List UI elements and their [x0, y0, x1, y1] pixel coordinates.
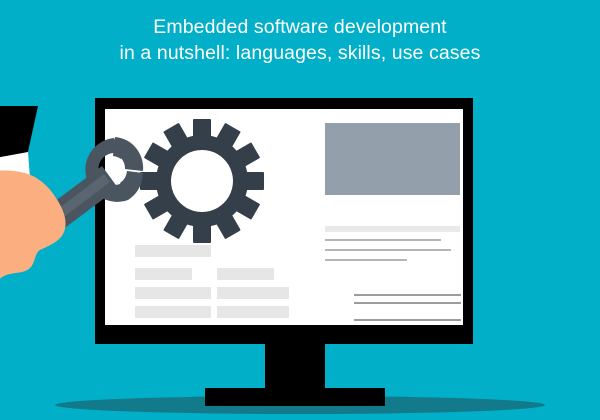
text-rule: [354, 302, 461, 304]
text-line: [325, 239, 441, 241]
text-rule: [354, 294, 461, 296]
text-rule: [354, 319, 461, 321]
monitor-stand-neck: [265, 344, 325, 392]
text-line: [325, 259, 407, 261]
image-placeholder: [325, 123, 460, 195]
page-title: Embedded software development in a nutsh…: [0, 14, 600, 66]
monitor-stand-base: [205, 388, 385, 406]
text-line: [325, 249, 451, 251]
text-block: [217, 268, 274, 280]
text-line: [325, 226, 460, 232]
illustration-canvas: Embedded software development in a nutsh…: [0, 0, 600, 420]
hand-with-wrench: [0, 118, 164, 308]
text-block: [217, 287, 289, 299]
text-block: [217, 306, 289, 318]
